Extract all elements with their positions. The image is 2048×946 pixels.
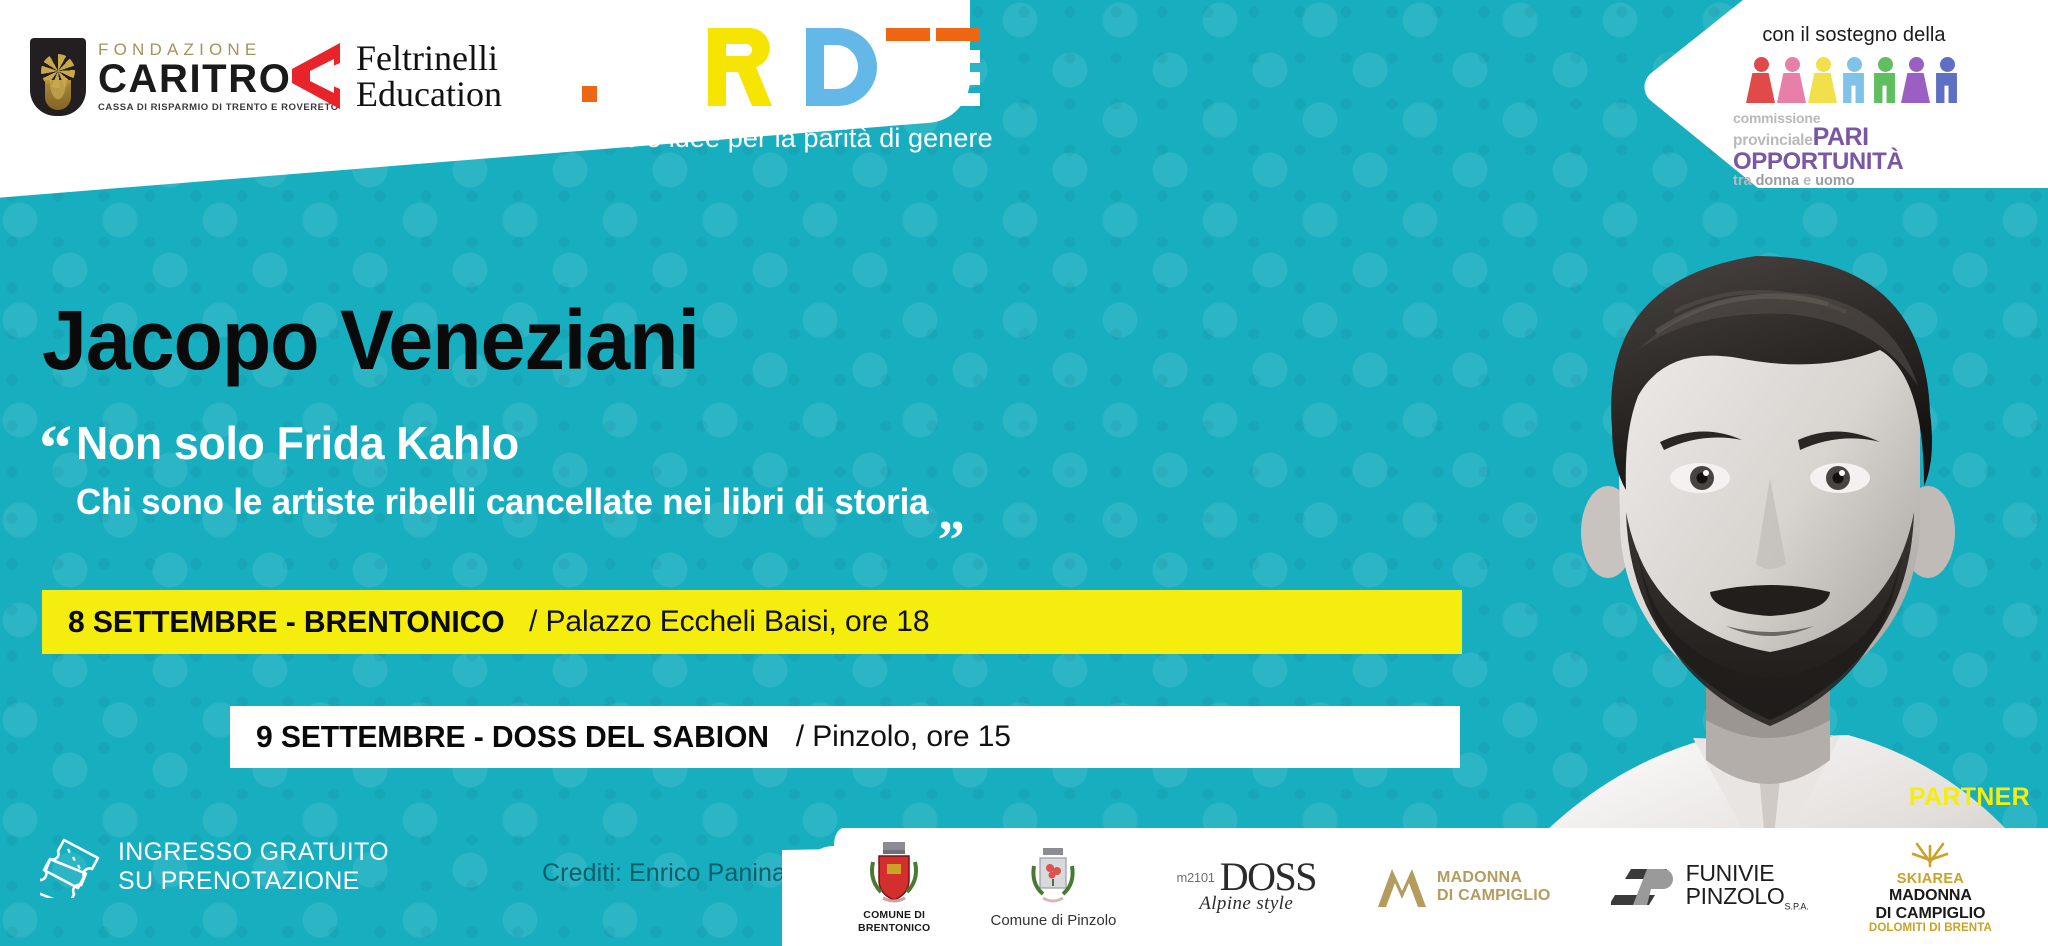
partner-funivie-pinzolo: FUNIVIE PINZOLOS.P.A.: [1611, 862, 1809, 912]
event-1-strong: 8 SETTEMBRE - BRENTONICO: [68, 604, 505, 640]
event-poster: FONDAZIONE CARITRO CASSA DI RISPARMIO DI…: [0, 0, 2048, 946]
pari-opportunita-logo: commissione provincialePARI OPPORTUNITÀ …: [1729, 53, 1979, 189]
partner-2-line1: Comune di Pinzolo: [991, 912, 1117, 929]
feltrinelli-line2: Education: [356, 76, 502, 112]
entry-line2: SU PRENOTAZIONE: [118, 867, 389, 897]
pinzolo-crest-icon: [1022, 846, 1084, 908]
funivie-fp-icon: [1611, 865, 1679, 909]
po-line2: provinciale: [1733, 132, 1813, 149]
speaker-name: Jacopo Veneziani: [42, 292, 699, 389]
partner-6-line1: SKIAREA: [1869, 872, 1992, 888]
supporter-intro: con il sostegno della: [1684, 24, 2024, 47]
event-band-doss-del-sabion: 9 SETTEMBRE - DOSS DEL SABION / Pinzolo,…: [230, 706, 1460, 768]
figure-4: [1839, 57, 1869, 109]
partner-5-line2: PINZOLO: [1686, 883, 1785, 909]
partner-6-line2: MADONNA: [1869, 887, 1992, 904]
quote-open-mark: “: [39, 416, 72, 482]
entry-line1: INGRESSO GRATUITO: [118, 838, 389, 868]
figure-7: [1932, 57, 1962, 109]
pari-opportunita-figures: [1729, 53, 1979, 109]
partner-logo-bar: COMUNE DI BRENTONICO: [782, 828, 2048, 946]
talk-title-line1: Non solo Frida Kahlo: [76, 420, 965, 468]
partner-madonna-di-campiglio: MADONNA DI CAMPIGLIO: [1376, 865, 1551, 909]
figure-3: [1808, 57, 1838, 109]
partner-1-line2: BRENTONICO: [858, 922, 930, 934]
partner-6-line3: DI CAMPIGLIO: [1869, 905, 1992, 922]
po-line2-strong: PARI: [1813, 123, 1869, 151]
partner-5-line1: FUNIVIE: [1686, 862, 1809, 885]
talk-title-block: “ Non solo Frida Kahlo Chi sono le artis…: [42, 420, 992, 521]
partner-label: PARTNER: [1909, 783, 2030, 812]
figure-6: [1901, 57, 1931, 109]
event-band-brentonico: 8 SETTEMBRE - BRENTONICO / Palazzo Ecche…: [42, 590, 1462, 654]
supporter-badge: con il sostegno della: [1684, 24, 2024, 189]
caritro-crest-icon: [30, 38, 86, 116]
partner-6-line4: DOLOMITI DI BRENTA: [1869, 922, 1992, 934]
figure-5: [1870, 57, 1900, 109]
figure-1: [1746, 57, 1776, 109]
brentonico-crest-icon: [863, 840, 925, 906]
partner-skiarea-madonna-campiglio: SKIAREA MADONNA DI CAMPIGLIO DOLOMITI DI…: [1869, 840, 1992, 935]
madonna-mountain-icon: [1376, 865, 1428, 909]
ticket-icon: [40, 836, 102, 898]
partner-4-line1: MADONNA: [1437, 869, 1551, 887]
partner-doss-alpine-style: m2101 DOSS Alpine style: [1176, 859, 1316, 915]
event-1-light: / Palazzo Eccheli Baisi, ore 18: [529, 605, 929, 639]
logo-feltrinelli-education: Feltrinelli Education: [290, 40, 502, 112]
free-entry-block: INGRESSO GRATUITO SU PRENOTAZIONE: [40, 836, 389, 898]
po-line4c: e: [1799, 173, 1815, 189]
talk-title-line2: Chi sono le artiste ribelli cancellate n…: [76, 481, 928, 522]
po-line4b: donna: [1756, 173, 1800, 189]
doss-prefix: m2101: [1176, 870, 1214, 885]
feltrinelli-line1: Feltrinelli: [356, 40, 502, 76]
event-2-light: / Pinzolo, ore 15: [796, 720, 1011, 754]
doss-line1: DOSS: [1220, 859, 1316, 895]
feltrinelli-arrow-icon: [290, 41, 342, 111]
partner-comune-pinzolo: Comune di Pinzolo: [991, 846, 1117, 929]
skiarea-star-icon: [1909, 840, 1951, 868]
photo-credits: Crediti: Enrico Panina: [542, 859, 786, 888]
po-line4a: tra: [1733, 173, 1756, 189]
figure-2: [1777, 57, 1807, 109]
po-line3: OPPORTUNITÀ: [1733, 150, 1979, 174]
partner-comune-brentonico: COMUNE DI BRENTONICO: [858, 840, 930, 934]
event-2-strong: 9 SETTEMBRE - DOSS DEL SABION: [256, 719, 769, 755]
po-line4d: uomo: [1815, 173, 1854, 189]
partner-4-line2: DI CAMPIGLIO: [1437, 887, 1551, 905]
header-logos: FONDAZIONE CARITRO CASSA DI RISPARMIO DI…: [0, 0, 1000, 200]
partner-1-line1: COMUNE DI: [858, 909, 930, 921]
partner-5-suffix: S.P.A.: [1785, 902, 1809, 912]
